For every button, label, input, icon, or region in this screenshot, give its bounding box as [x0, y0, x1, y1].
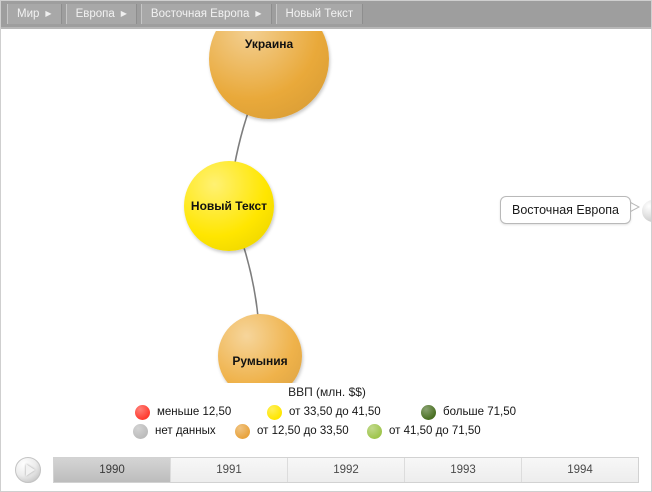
bubble-node[interactable]: Новый Текст	[184, 161, 274, 251]
timeline-year-label: 1991	[216, 464, 242, 476]
timeline-year-1994[interactable]: 1994	[522, 458, 638, 482]
timeline-year-1991[interactable]: 1991	[171, 458, 288, 482]
legend-entry[interactable]: меньше 12,50	[135, 403, 265, 421]
timeline-year-label: 1990	[99, 464, 125, 476]
legend-swatch-icon	[267, 405, 282, 420]
legend-swatch-icon	[135, 405, 150, 420]
legend-entry-label: от 12,50 до 33,50	[257, 425, 349, 437]
chevron-right-icon: ▶	[255, 10, 261, 18]
legend-entry-label: нет данных	[155, 425, 216, 437]
legend-entry-label: от 41,50 до 71,50	[389, 425, 481, 437]
chevron-right-icon: ▶	[121, 10, 127, 18]
timeline-year-1990[interactable]: 1990	[54, 458, 171, 482]
legend-entry[interactable]: от 33,50 до 41,50	[267, 403, 419, 421]
breadcrumb-item-3[interactable]: Новый Текст	[276, 4, 364, 24]
breadcrumb-item-label: Новый Текст	[286, 8, 354, 20]
legend-entry[interactable]: от 41,50 до 71,50	[367, 422, 519, 440]
chevron-right-icon: ▶	[45, 10, 51, 18]
tooltip-label: Восточная Европа	[512, 203, 619, 217]
bubble-label: Новый Текст	[191, 199, 267, 213]
breadcrumb-item-1[interactable]: Европа▶	[66, 4, 137, 24]
timeline-track[interactable]: 19901991199219931994	[53, 457, 639, 483]
legend: ВВП (млн. $$) меньше 12,50от 33,50 до 41…	[1, 385, 652, 441]
legend-title: ВВП (млн. $$)	[1, 385, 652, 399]
legend-entry-label: больше 71,50	[443, 406, 516, 418]
legend-swatch-icon	[133, 424, 148, 439]
legend-swatch-icon	[367, 424, 382, 439]
timeline: 19901991199219931994	[1, 447, 652, 492]
bubble-label: Украина	[245, 37, 293, 51]
breadcrumb: Мир▶Европа▶Восточная Европа▶Новый Текст	[1, 1, 652, 29]
bubble-label: Румыния	[232, 354, 287, 368]
breadcrumb-item-2[interactable]: Восточная Европа▶	[141, 4, 272, 24]
breadcrumb-item-label: Восточная Европа	[151, 8, 249, 20]
legend-items: меньше 12,50от 33,50 до 41,50больше 71,5…	[112, 403, 542, 441]
timeline-year-label: 1994	[567, 464, 593, 476]
legend-entry-label: меньше 12,50	[157, 406, 231, 418]
timeline-year-1993[interactable]: 1993	[405, 458, 522, 482]
breadcrumb-item-0[interactable]: Мир▶	[7, 4, 62, 24]
bubble-chart-app: Мир▶Европа▶Восточная Европа▶Новый Текст …	[0, 0, 652, 492]
play-button[interactable]	[15, 457, 41, 483]
timeline-year-1992[interactable]: 1992	[288, 458, 405, 482]
play-icon	[26, 464, 35, 476]
tooltip-callout[interactable]: Восточная Европа	[500, 196, 631, 224]
breadcrumb-item-label: Европа	[76, 8, 115, 20]
legend-swatch-icon	[421, 405, 436, 420]
timeline-year-label: 1992	[333, 464, 359, 476]
legend-entry[interactable]: больше 71,50	[421, 403, 517, 421]
breadcrumb-item-label: Мир	[17, 8, 39, 20]
legend-entry-label: от 33,50 до 41,50	[289, 406, 381, 418]
timeline-year-label: 1993	[450, 464, 476, 476]
legend-swatch-icon	[235, 424, 250, 439]
legend-entry[interactable]: нет данных	[133, 422, 233, 440]
legend-entry[interactable]: от 12,50 до 33,50	[235, 422, 365, 440]
